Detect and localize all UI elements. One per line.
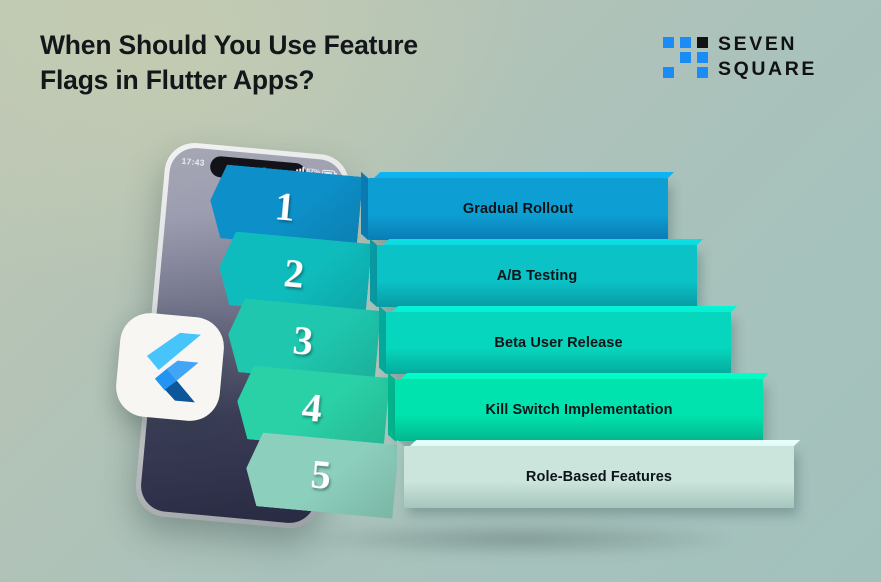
brand-name-line-2: SQUARE xyxy=(718,57,817,82)
step-banner[interactable]: A/B Testing xyxy=(377,245,697,307)
banner-front-face: Kill Switch Implementation xyxy=(395,379,763,441)
step-banner[interactable]: Kill Switch Implementation xyxy=(395,379,763,441)
status-bar-time: 17:43 xyxy=(181,156,205,168)
step-number-label: 4 xyxy=(300,387,324,429)
banner-side-face xyxy=(370,239,377,307)
step-number-label: 1 xyxy=(273,186,297,228)
brand-name: SEVEN SQUARE ® xyxy=(718,32,817,82)
step-number-label: 2 xyxy=(282,253,306,295)
banner-label: A/B Testing xyxy=(497,268,578,284)
banner-front-face: Role-Based Features xyxy=(404,446,794,508)
brand-logo: SEVEN SQUARE ® xyxy=(663,32,848,84)
step-banner-list: Gradual RolloutA/B TestingBeta User Rele… xyxy=(368,178,798,530)
banner-label: Gradual Rollout xyxy=(463,201,573,217)
banner-side-face xyxy=(361,172,368,240)
page-title-line-1: When Should You Use Feature xyxy=(40,28,510,63)
step-banner[interactable]: Role-Based Features xyxy=(404,446,794,508)
banner-label: Role-Based Features xyxy=(526,469,672,485)
banner-side-face xyxy=(397,440,404,508)
banner-side-face xyxy=(379,306,386,374)
page-title-line-2: Flags in Flutter Apps? xyxy=(40,63,510,98)
banner-label: Kill Switch Implementation xyxy=(485,402,672,418)
banner-front-face: Beta User Release xyxy=(386,312,731,374)
step-banner[interactable]: Beta User Release xyxy=(386,312,731,374)
seven-square-grid-icon xyxy=(663,37,709,78)
banner-side-face xyxy=(388,373,395,441)
step-number-label: 3 xyxy=(291,320,315,362)
banner-front-face: Gradual Rollout xyxy=(368,178,668,240)
step-number-label: 5 xyxy=(309,454,333,496)
infographic-canvas: When Should You Use Feature Flags in Flu… xyxy=(0,0,881,582)
banner-label: Beta User Release xyxy=(494,335,622,351)
banner-front-face: A/B Testing xyxy=(377,245,697,307)
step-banner[interactable]: Gradual Rollout xyxy=(368,178,668,240)
page-title: When Should You Use Feature Flags in Flu… xyxy=(40,28,510,98)
brand-name-line-1: SEVEN xyxy=(718,32,817,57)
flutter-glyph xyxy=(138,330,202,405)
